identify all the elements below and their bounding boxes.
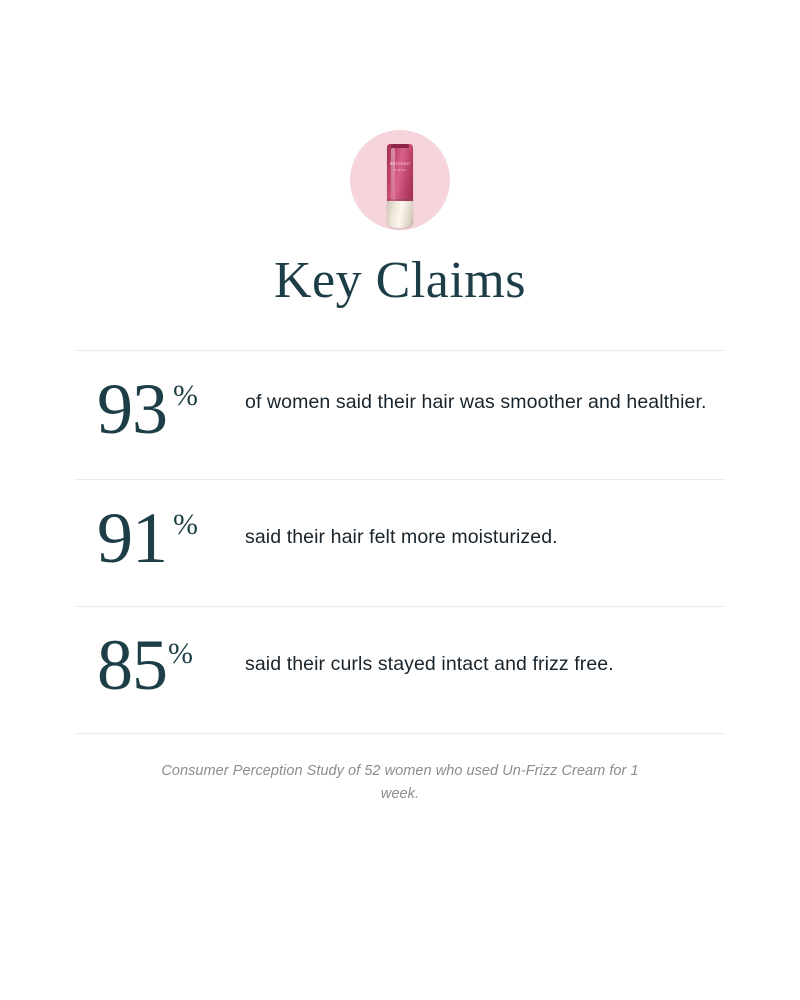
tube-cap	[391, 144, 409, 148]
tube-product-text: Un-Frizz	[387, 167, 413, 173]
tube-body: BRIOGEO Un-Frizz	[387, 144, 413, 228]
claim-text: said their curls stayed intact and frizz…	[245, 627, 725, 679]
key-claims-page: BRIOGEO Un-Frizz Key Claims 93 % of wome…	[0, 0, 800, 1000]
claim-stat: 85 %	[75, 627, 245, 703]
divider-bottom	[75, 733, 725, 734]
percent-symbol: %	[173, 381, 198, 411]
claim-stat: 93 %	[75, 371, 245, 447]
product-badge: BRIOGEO Un-Frizz	[0, 130, 800, 230]
claims-list: 93 % of women said their hair was smooth…	[75, 350, 725, 734]
claim-number: 91	[97, 500, 167, 576]
claim-number: 93	[97, 371, 167, 447]
tube-cream-base	[387, 201, 413, 228]
badge-circle: BRIOGEO Un-Frizz	[350, 130, 450, 230]
page-title: Key Claims	[0, 250, 800, 312]
claim-number: 85	[97, 627, 167, 703]
claim-stat: 91 %	[75, 500, 245, 576]
claim-text: of women said their hair was smoother an…	[245, 371, 725, 417]
claim-row: 91 % said their hair felt more moisturiz…	[75, 480, 725, 606]
product-tube-icon: BRIOGEO Un-Frizz	[387, 144, 413, 228]
claim-text: said their hair felt more moisturized.	[245, 500, 725, 552]
percent-symbol: %	[173, 510, 198, 540]
tube-brand-label: BRIOGEO Un-Frizz	[387, 161, 413, 173]
claim-row: 93 % of women said their hair was smooth…	[75, 351, 725, 479]
study-footnote: Consumer Perception Study of 52 women wh…	[150, 760, 650, 806]
claim-row: 85 % said their curls stayed intact and …	[75, 607, 725, 733]
tube-brand-text: BRIOGEO	[390, 161, 411, 166]
percent-symbol: %	[168, 639, 193, 669]
